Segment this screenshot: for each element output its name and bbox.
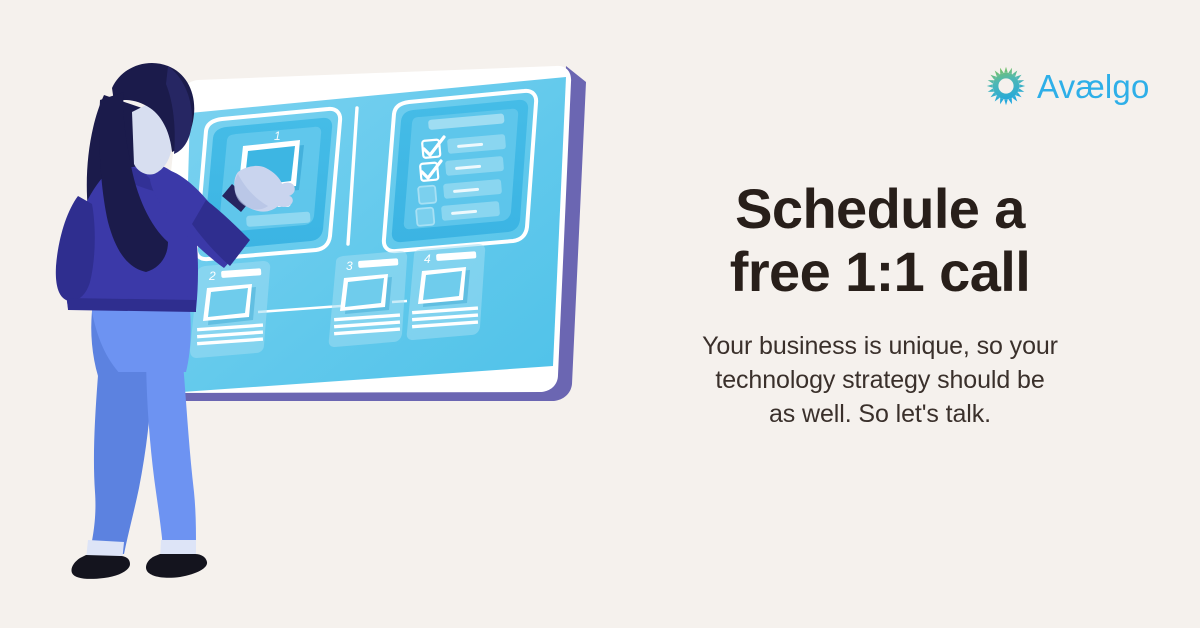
brand-wordmark: Avælgo <box>1037 70 1150 103</box>
copy-block: Schedule a free 1:1 call Your business i… <box>640 178 1120 431</box>
bottom-card: 2 <box>190 261 270 358</box>
shoe-front <box>146 554 207 578</box>
bottom-card-tile-screen <box>423 271 462 300</box>
bottom-card-number: 2 <box>208 269 216 283</box>
checkbox-empty <box>416 208 434 226</box>
sunburst-logo-mark <box>986 66 1026 106</box>
leg-back <box>90 350 152 554</box>
checkbox-empty <box>418 186 436 204</box>
bottom-card-number: 4 <box>424 252 431 266</box>
bottom-card-tile-screen <box>345 278 384 307</box>
brand-logo[interactable]: Avælgo <box>986 66 1150 106</box>
promo-banner: 1 erence <box>0 0 1200 628</box>
hero-illustration: 1 erence <box>0 0 620 628</box>
screen-panel-checklist <box>384 91 536 251</box>
shoe-back <box>71 555 130 579</box>
bottom-card-number: 3 <box>346 259 353 273</box>
bottom-card: 3 <box>329 251 407 347</box>
page-subtitle: Your business is unique, so your technol… <box>640 329 1120 431</box>
bottom-card-tile-screen <box>208 288 248 317</box>
page-title: Schedule a free 1:1 call <box>640 178 1120 303</box>
sweater-hem <box>67 298 196 312</box>
panel-left-number: 1 <box>274 129 281 143</box>
bottom-card: 4 <box>407 244 485 340</box>
